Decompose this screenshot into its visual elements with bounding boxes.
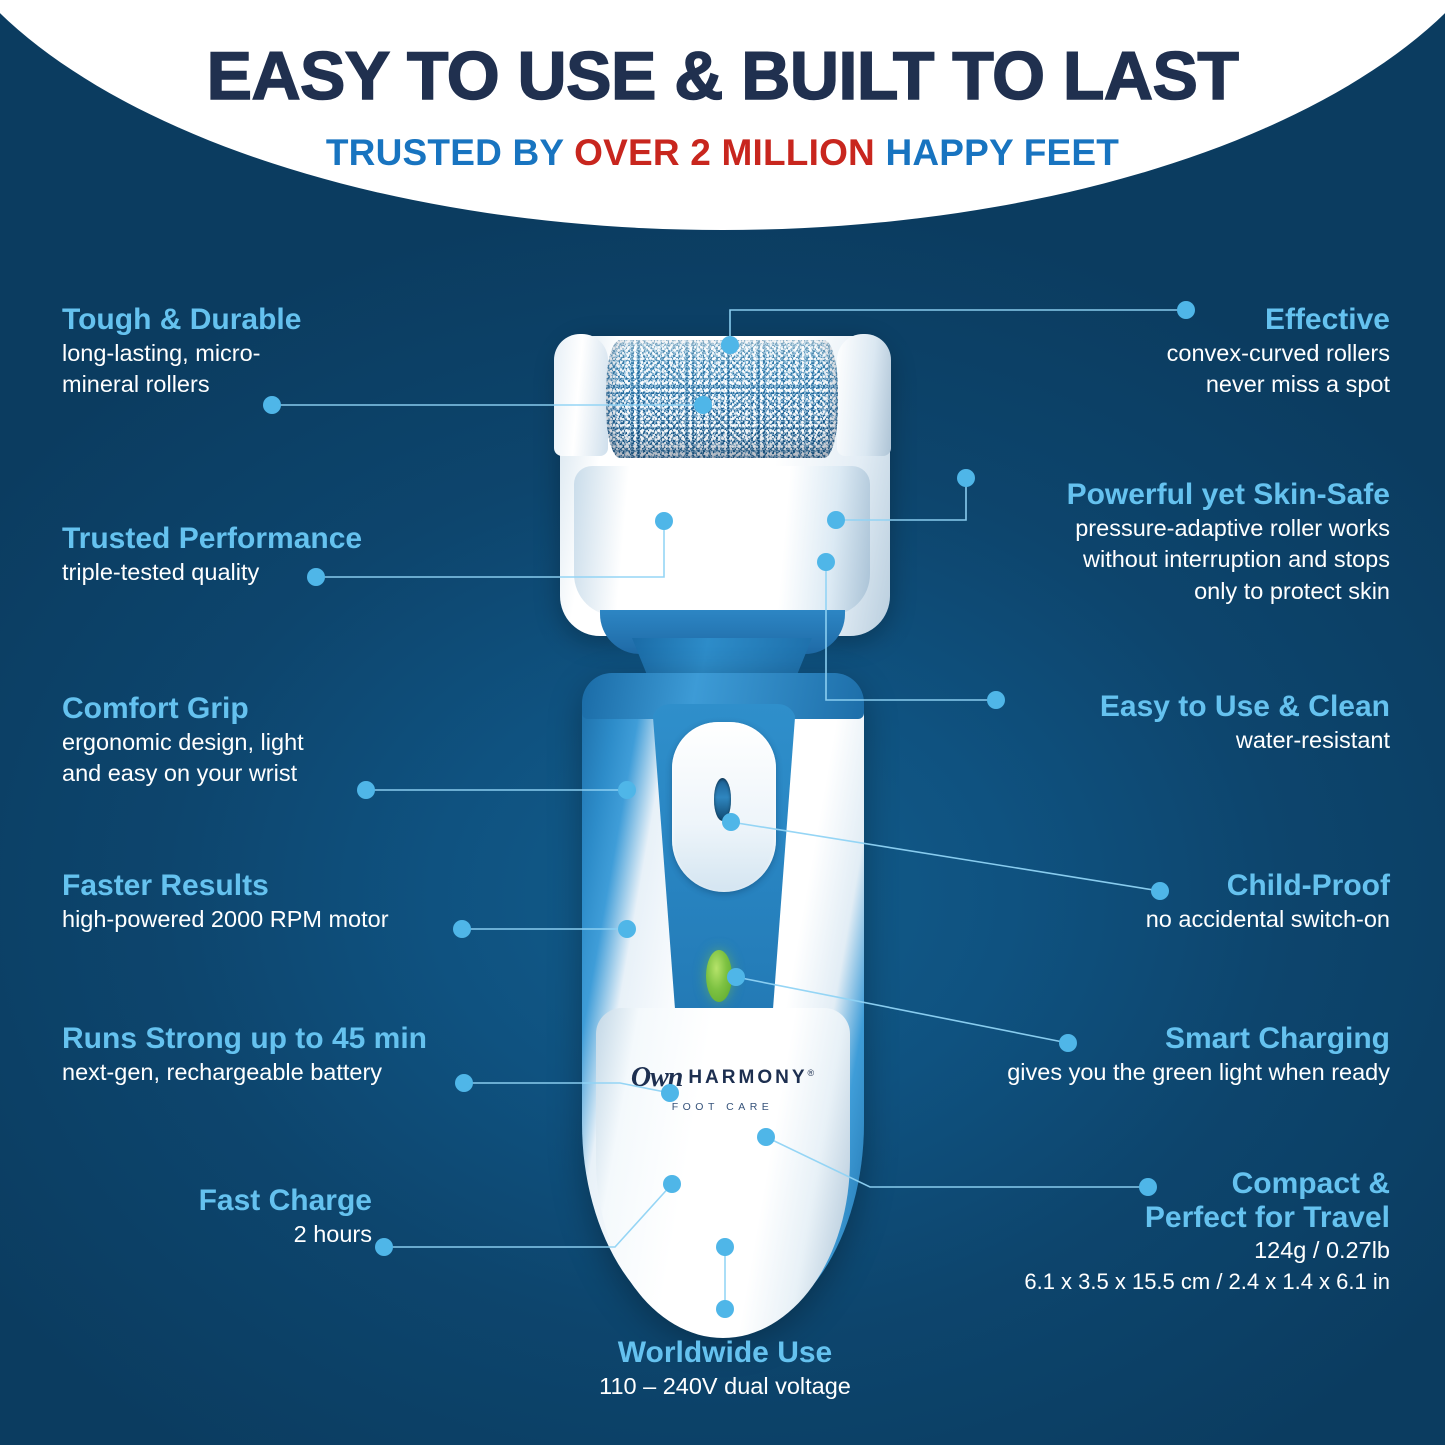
callout-compact-travel-title-1: Compact & [770, 1167, 1390, 1201]
callout-tough-durable-desc-2: mineral rollers [62, 370, 301, 400]
callout-faster-results-desc-1: high-powered 2000 RPM motor [62, 905, 389, 935]
callout-worldwide-use: Worldwide Use 110 – 240V dual voltage [505, 1336, 945, 1401]
power-button-slot-icon[interactable] [714, 778, 731, 821]
callout-smart-charging-desc-1: gives you the green light when ready [770, 1058, 1390, 1088]
callout-faster-results-title: Faster Results [62, 869, 389, 903]
leader-dot-comfort-grip-label [357, 781, 375, 799]
callout-fast-charge-desc-1: 2 hours [0, 1220, 372, 1250]
callout-runs-strong-desc-1: next-gen, rechargeable battery [62, 1058, 427, 1088]
callout-trusted-performance: Trusted Performance triple-tested qualit… [62, 522, 362, 587]
callout-faster-results: Faster Results high-powered 2000 RPM mot… [62, 869, 389, 934]
callout-worldwide-use-desc-1: 110 – 240V dual voltage [505, 1372, 945, 1402]
callout-powerful-skin-safe-desc-3: only to protect skin [750, 577, 1390, 607]
callout-tough-durable-title: Tough & Durable [62, 303, 301, 337]
callout-compact-travel-title-2: Perfect for Travel [770, 1201, 1390, 1235]
green-charge-led-icon [706, 950, 732, 1002]
callout-runs-strong: Runs Strong up to 45 min next-gen, recha… [62, 1022, 427, 1087]
callout-fast-charge-title: Fast Charge [0, 1184, 372, 1218]
callout-powerful-skin-safe-title: Powerful yet Skin-Safe [750, 478, 1390, 512]
callout-easy-clean-title: Easy to Use & Clean [830, 690, 1390, 724]
leader-dot-fast-charge-label [375, 1238, 393, 1256]
callout-child-proof-title: Child-Proof [830, 869, 1390, 903]
callout-comfort-grip-title: Comfort Grip [62, 692, 304, 726]
leader-dot-faster-results-label [453, 920, 471, 938]
callout-effective-title: Effective [870, 303, 1390, 337]
leader-dot-runs-strong-label [455, 1074, 473, 1092]
callout-trusted-performance-desc-1: triple-tested quality [62, 558, 362, 588]
logo-tagline: FOOT CARE [540, 1101, 905, 1113]
callout-trusted-performance-title: Trusted Performance [62, 522, 362, 556]
callout-child-proof: Child-Proof no accidental switch-on [830, 869, 1390, 934]
callout-easy-clean-desc-1: water-resistant [830, 726, 1390, 756]
callout-effective-desc-1: convex-curved rollers [870, 339, 1390, 369]
callout-powerful-skin-safe: Powerful yet Skin-Safe pressure-adaptive… [750, 478, 1390, 606]
callout-powerful-skin-safe-desc-1: pressure-adaptive roller works [750, 514, 1390, 544]
callout-child-proof-desc-1: no accidental switch-on [830, 905, 1390, 935]
callout-smart-charging-title: Smart Charging [770, 1022, 1390, 1056]
callout-smart-charging: Smart Charging gives you the green light… [770, 1022, 1390, 1087]
header-white-band [0, 0, 1445, 230]
callout-tough-durable-desc-1: long-lasting, micro- [62, 339, 301, 369]
callout-compact-travel-desc-2: 6.1 x 3.5 x 15.5 cm / 2.4 x 1.4 x 6.1 in [770, 1268, 1390, 1296]
infographic-canvas: OwnHARMONY® FOOT CARE [0, 0, 1445, 1445]
callout-fast-charge: Fast Charge 2 hours [0, 1184, 372, 1249]
callout-effective-desc-2: never miss a spot [870, 370, 1390, 400]
callout-comfort-grip: Comfort Grip ergonomic design, light and… [62, 692, 304, 789]
callout-comfort-grip-desc-2: and easy on your wrist [62, 759, 304, 789]
callout-easy-clean: Easy to Use & Clean water-resistant [830, 690, 1390, 755]
callout-powerful-skin-safe-desc-2: without interruption and stops [750, 545, 1390, 575]
callout-comfort-grip-desc-1: ergonomic design, light [62, 728, 304, 758]
callout-tough-durable: Tough & Durable long-lasting, micro- min… [62, 303, 301, 400]
callout-compact-travel-desc-1: 124g / 0.27lb [770, 1236, 1390, 1266]
logo-script-text: Own [631, 1062, 682, 1093]
callout-compact-travel: Compact & Perfect for Travel 124g / 0.27… [770, 1167, 1390, 1296]
roller-arm-left [554, 334, 608, 456]
micro-mineral-roller [606, 340, 838, 458]
callout-runs-strong-title: Runs Strong up to 45 min [62, 1022, 427, 1056]
callout-effective: Effective convex-curved rollers never mi… [870, 303, 1390, 400]
callout-worldwide-use-title: Worldwide Use [505, 1336, 945, 1370]
